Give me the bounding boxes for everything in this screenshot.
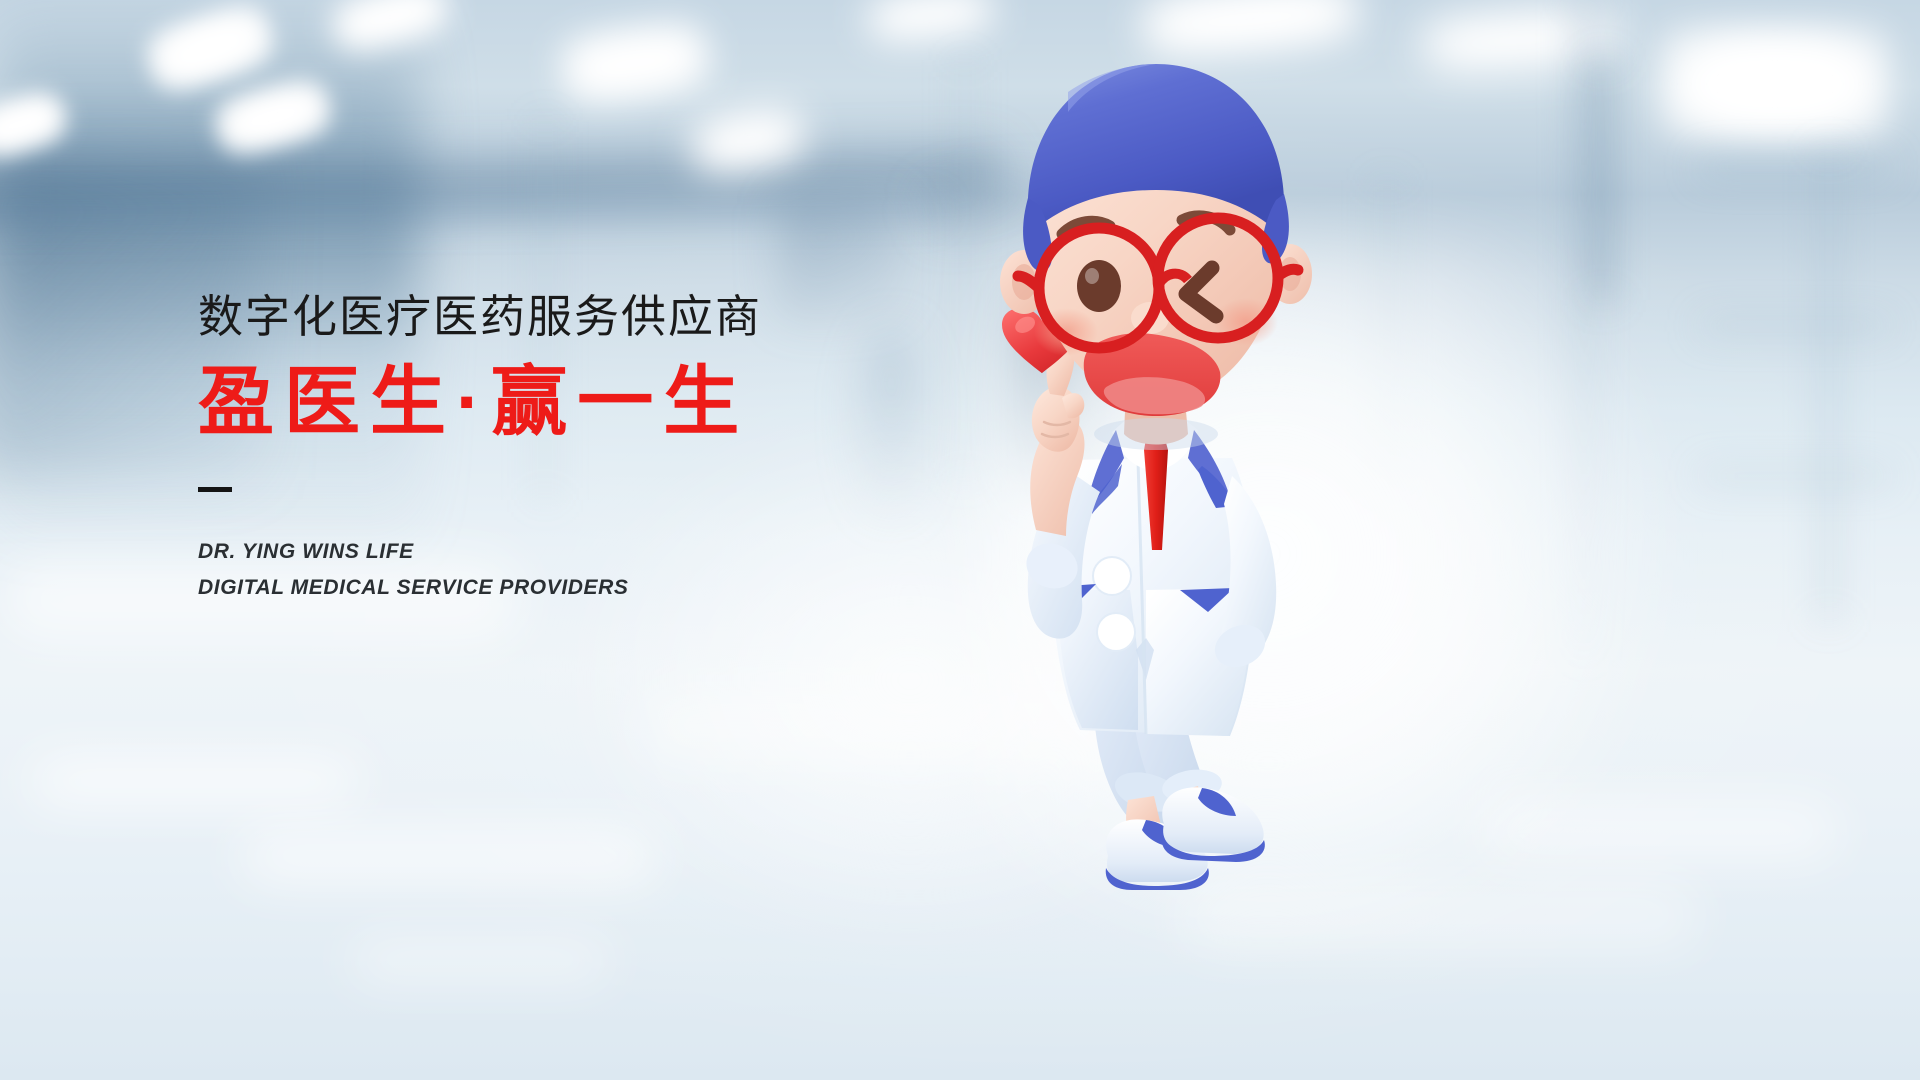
banner-headline: 盈医生·赢一生 — [198, 365, 958, 441]
banner-subheadline: 数字化医疗医药服务供应商 — [198, 294, 958, 339]
eye-open — [1077, 260, 1121, 312]
banner-copy-block: 数字化医疗医药服务供应商 盈医生·赢一生 DR. YING WINS LIFE … — [198, 294, 958, 606]
divider-rule — [198, 487, 232, 492]
banner-english-line-2: DIGITAL MEDICAL SERVICE PROVIDERS — [198, 570, 958, 606]
doctor-mascot-illustration — [940, 30, 1410, 1030]
banner-stage: 数字化医疗医药服务供应商 盈医生·赢一生 DR. YING WINS LIFE … — [0, 0, 1920, 1080]
banner-english-line-1: DR. YING WINS LIFE — [198, 534, 958, 570]
